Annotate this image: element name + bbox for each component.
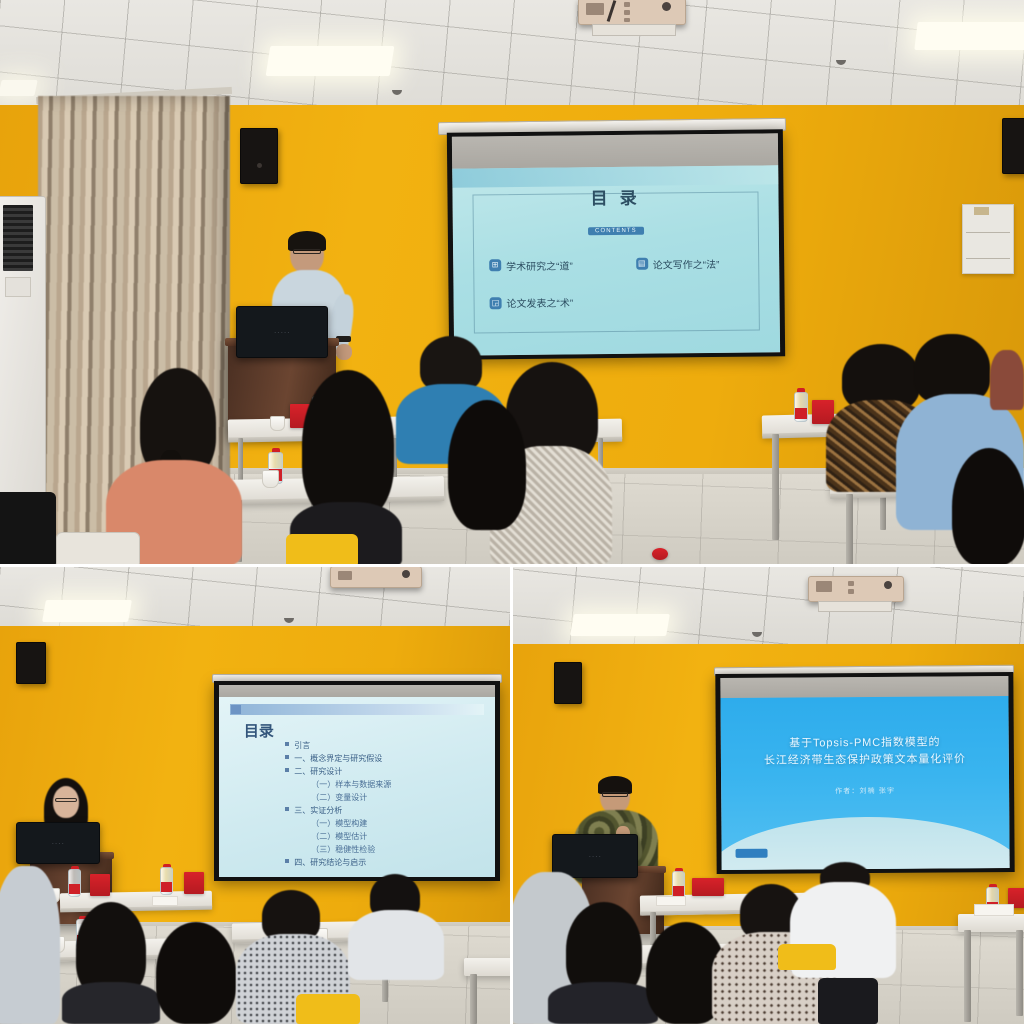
projection-screen-frame: 目 录 CONTENTS ⊞ 学术研究之“道” ▤ 论文写作之“法” ◲ 论文发… <box>447 129 785 360</box>
wall-speaker-left <box>16 642 46 684</box>
screen-dead-area <box>720 676 1008 698</box>
bottle-body <box>160 867 173 895</box>
bottom-left-panel: 目录 引言 一、概念界定与研究假设 二、研究设计 （一）样本与数据来源 （二）变… <box>0 566 512 1024</box>
ceiling-projector <box>808 576 904 616</box>
list-subitem: （一）模型构建 <box>311 818 478 829</box>
publish-icon: ◲ <box>489 297 501 309</box>
bullet-icon <box>285 755 289 759</box>
table-leg <box>964 930 971 1022</box>
speaker-driver-icon <box>257 163 262 168</box>
slide-corner-tag <box>736 849 768 858</box>
wall-speaker-left <box>240 128 278 184</box>
red-table-marker <box>652 548 668 560</box>
presenter-glasses-icon <box>293 249 321 254</box>
paper-sheet <box>974 904 1014 916</box>
bottle-label <box>161 882 172 892</box>
table-leg <box>470 974 477 1024</box>
book-icon: ⊞ <box>489 259 501 271</box>
red-name-card <box>90 874 110 896</box>
bottle-body <box>794 392 808 422</box>
audience-member <box>150 922 246 1024</box>
slide-outline-list: 引言 一、概念界定与研究假设 二、研究设计 （一）样本与数据来源 （二）变量设计… <box>285 740 478 870</box>
paper-sheet <box>656 896 686 906</box>
list-item-label: 四、研究结论与启示 <box>294 857 366 868</box>
wall-speaker-right <box>1002 118 1024 174</box>
slide-title-line2: 长江经济带生态保护政策文本量化评价 <box>721 751 1009 770</box>
audience-hair <box>156 922 236 1024</box>
list-item: 四、研究结论与启示 <box>285 857 478 868</box>
bottle-body <box>672 871 685 899</box>
laptop-logo: • • • • <box>52 841 64 846</box>
list-item-label: 二、研究设计 <box>294 766 342 777</box>
panel-seam-vertical <box>510 566 513 1024</box>
list-subitem: （三）稳健性检验 <box>311 844 478 855</box>
air-conditioner-grille <box>3 205 33 271</box>
screen-dead-area <box>452 133 778 168</box>
bullet-icon <box>285 807 289 811</box>
slide-item-3: ◲ 论文发表之“术” <box>489 295 573 311</box>
audience-hair <box>448 400 526 530</box>
audience-member <box>62 902 160 1024</box>
list-item: 一、概念界定与研究假设 <box>285 753 478 764</box>
slide-title-page: 基于Topsis-PMC指数模型的 长江经济带生态保护政策文本量化评价 作者：刘… <box>720 696 1009 870</box>
projection-screen-surface: 目 录 CONTENTS ⊞ 学术研究之“道” ▤ 论文写作之“法” ◲ 论文发… <box>452 133 780 355</box>
document-icon: ▤ <box>636 258 648 270</box>
presenter-glasses-icon <box>55 798 77 802</box>
wall-notice-frame <box>962 204 1014 274</box>
bottom-right-panel: 基于Topsis-PMC指数模型的 长江经济带生态保护政策文本量化评价 作者：刘… <box>512 566 1024 1024</box>
ceiling-light <box>570 614 670 636</box>
audience-top <box>0 866 60 1024</box>
presenter-head <box>53 786 79 818</box>
slide-band <box>230 704 484 715</box>
screen-dead-area <box>219 685 495 697</box>
bottle-label <box>69 884 80 894</box>
slide-author: 作者：刘楠 张宇 <box>721 785 1009 797</box>
audience-top <box>62 982 160 1024</box>
list-item-label: 引言 <box>294 740 310 751</box>
notice-header <box>974 207 989 214</box>
bottle-label <box>795 408 807 419</box>
yellow-chair <box>778 944 836 970</box>
presenter-hand <box>336 344 352 360</box>
slide-title-line1: 基于Topsis-PMC指数模型的 <box>721 734 1009 753</box>
ceiling-light <box>914 22 1024 50</box>
water-bottle <box>794 388 808 422</box>
top-panel-lecture-room: 目 录 CONTENTS ⊞ 学术研究之“道” ▤ 论文写作之“法” ◲ 论文发… <box>0 0 1024 566</box>
audience-top <box>990 350 1024 410</box>
table-leg <box>846 494 853 566</box>
slide-contents: 目 录 CONTENTS ⊞ 学术研究之“道” ▤ 论文写作之“法” ◲ 论文发… <box>452 165 780 355</box>
water-bottle <box>160 864 173 895</box>
audience-member <box>0 866 60 1024</box>
ceiling-light <box>266 46 395 76</box>
ceiling-projector <box>330 566 422 594</box>
office-chair <box>0 492 56 566</box>
air-conditioner-panel <box>5 277 31 297</box>
projection-screen-surface: 目录 引言 一、概念界定与研究假设 二、研究设计 （一）样本与数据来源 （二）变… <box>219 685 495 877</box>
presenter-hair <box>288 231 326 251</box>
audience-top <box>348 910 444 980</box>
slide-item-label: 论文发表之“术” <box>506 295 573 311</box>
list-subitem: （一）样本与数据来源 <box>311 779 478 790</box>
slide-item-1: ⊞ 学术研究之“道” <box>489 257 573 273</box>
notice-line <box>966 232 1010 233</box>
list-item: 二、研究设计 <box>285 766 478 777</box>
slide-title: 目 录 <box>452 182 778 210</box>
slide-title: 目录 <box>244 720 274 741</box>
bottle-body <box>68 869 81 897</box>
photo-collage: 目 录 CONTENTS ⊞ 学术研究之“道” ▤ 论文写作之“法” ◲ 论文发… <box>0 0 1024 1024</box>
notice-line <box>966 258 1010 259</box>
list-item: 三、实证分析 <box>285 805 478 816</box>
air-conditioner <box>0 196 46 506</box>
bullet-icon <box>285 742 289 746</box>
chair <box>818 978 878 1024</box>
audience-hair <box>302 370 394 520</box>
bullet-icon <box>285 768 289 772</box>
audience-member <box>440 400 532 566</box>
yellow-chair <box>286 534 358 566</box>
projection-screen-frame: 目录 引言 一、概念界定与研究假设 二、研究设计 （一）样本与数据来源 （二）变… <box>214 681 500 881</box>
red-name-card <box>184 872 204 894</box>
table-leg <box>1016 930 1023 1016</box>
yellow-chair <box>296 994 360 1024</box>
list-item-label: 一、概念界定与研究假设 <box>294 753 382 764</box>
projection-screen-frame: 基于Topsis-PMC指数模型的 长江经济带生态保护政策文本量化评价 作者：刘… <box>715 672 1014 874</box>
list-subitem: （二）模型估计 <box>311 831 478 842</box>
slide-item-2: ▤ 论文写作之“法” <box>636 256 720 272</box>
slide-square-marker <box>231 705 241 714</box>
slide-outline: 目录 引言 一、概念界定与研究假设 二、研究设计 （一）样本与数据来源 （二）变… <box>219 697 495 877</box>
slide-title: 基于Topsis-PMC指数模型的 长江经济带生态保护政策文本量化评价 <box>721 734 1009 770</box>
chair <box>56 532 140 566</box>
water-bottle <box>68 866 81 897</box>
list-subitem: （二）变量设计 <box>311 792 478 803</box>
laptop: • • • • <box>16 822 100 864</box>
water-bottle <box>672 868 685 899</box>
slide-item-label: 学术研究之“道” <box>506 257 573 273</box>
table-leg <box>772 434 779 540</box>
ceiling-light <box>0 80 38 96</box>
ceiling-projector <box>578 0 686 34</box>
slide-item-label: 论文写作之“法” <box>653 256 720 272</box>
audience-hair <box>952 448 1024 566</box>
wall-speaker-left <box>554 662 582 704</box>
laptop-logo: • • • • • <box>274 330 289 335</box>
list-item: 引言 <box>285 740 478 751</box>
presenter-glasses-icon <box>602 792 628 797</box>
audience-member <box>348 874 444 980</box>
bottle-label <box>673 886 684 896</box>
paper-cup <box>262 470 279 488</box>
laptop: • • • • • <box>236 306 328 358</box>
list-item-label: 三、实证分析 <box>294 805 342 816</box>
projection-screen-surface: 基于Topsis-PMC指数模型的 长江经济带生态保护政策文本量化评价 作者：刘… <box>720 676 1009 870</box>
bullet-icon <box>285 859 289 863</box>
ceiling-light <box>42 600 132 622</box>
paper-cup <box>270 416 285 431</box>
slide-subtitle-badge: CONTENTS <box>588 227 644 236</box>
audience-member <box>952 448 1024 566</box>
audience-member <box>990 350 1024 410</box>
laptop-logo: • • • • <box>589 854 601 859</box>
